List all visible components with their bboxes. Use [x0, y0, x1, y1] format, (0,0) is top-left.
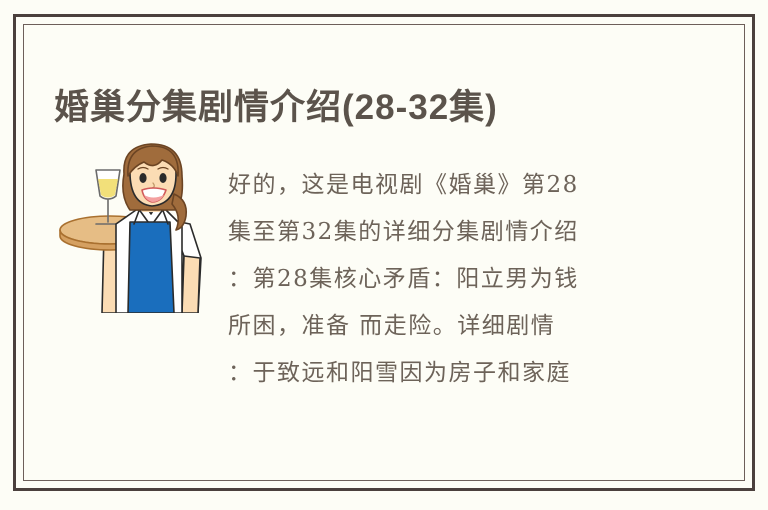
page-title: 婚巢分集剧情介绍(28-32集) — [54, 85, 704, 131]
apron-shape — [128, 222, 174, 313]
article-line: ：第28集核心矛盾：阳立男为钱 — [228, 256, 652, 303]
wine-liquid — [98, 179, 118, 198]
waitress-with-tray-illustration — [58, 138, 218, 313]
article-line-text: ：于致远和阳雪因为房子和家庭 — [228, 350, 571, 397]
page-root: 婚巢分集剧情介绍(28-32集) — [0, 0, 768, 510]
article-line: 好的，这是电视剧《婚巢》第28 — [228, 162, 652, 209]
article-line-text: 集至第32集的详细分集剧情介绍 — [228, 209, 579, 256]
article-body: 好的，这是电视剧《婚巢》第28 集至第32集的详细分集剧情介绍 ：第28集核心矛… — [228, 162, 652, 397]
left-eye — [139, 173, 146, 183]
article-line: 集至第32集的详细分集剧情介绍 — [228, 209, 652, 256]
right-forearm-shape — [182, 256, 200, 313]
article-line-text: 好的，这是电视剧《婚巢》第28 — [228, 162, 579, 209]
article-line: 所困，准备 而走险。详细剧情 — [228, 303, 652, 350]
right-eye — [159, 173, 166, 183]
article-line-text: ：第28集核心矛盾：阳立男为钱 — [228, 256, 579, 303]
article-line-text: 所困，准备 而走险。详细剧情 — [228, 303, 555, 350]
article-line: ：于致远和阳雪因为房子和家庭 — [228, 350, 652, 397]
